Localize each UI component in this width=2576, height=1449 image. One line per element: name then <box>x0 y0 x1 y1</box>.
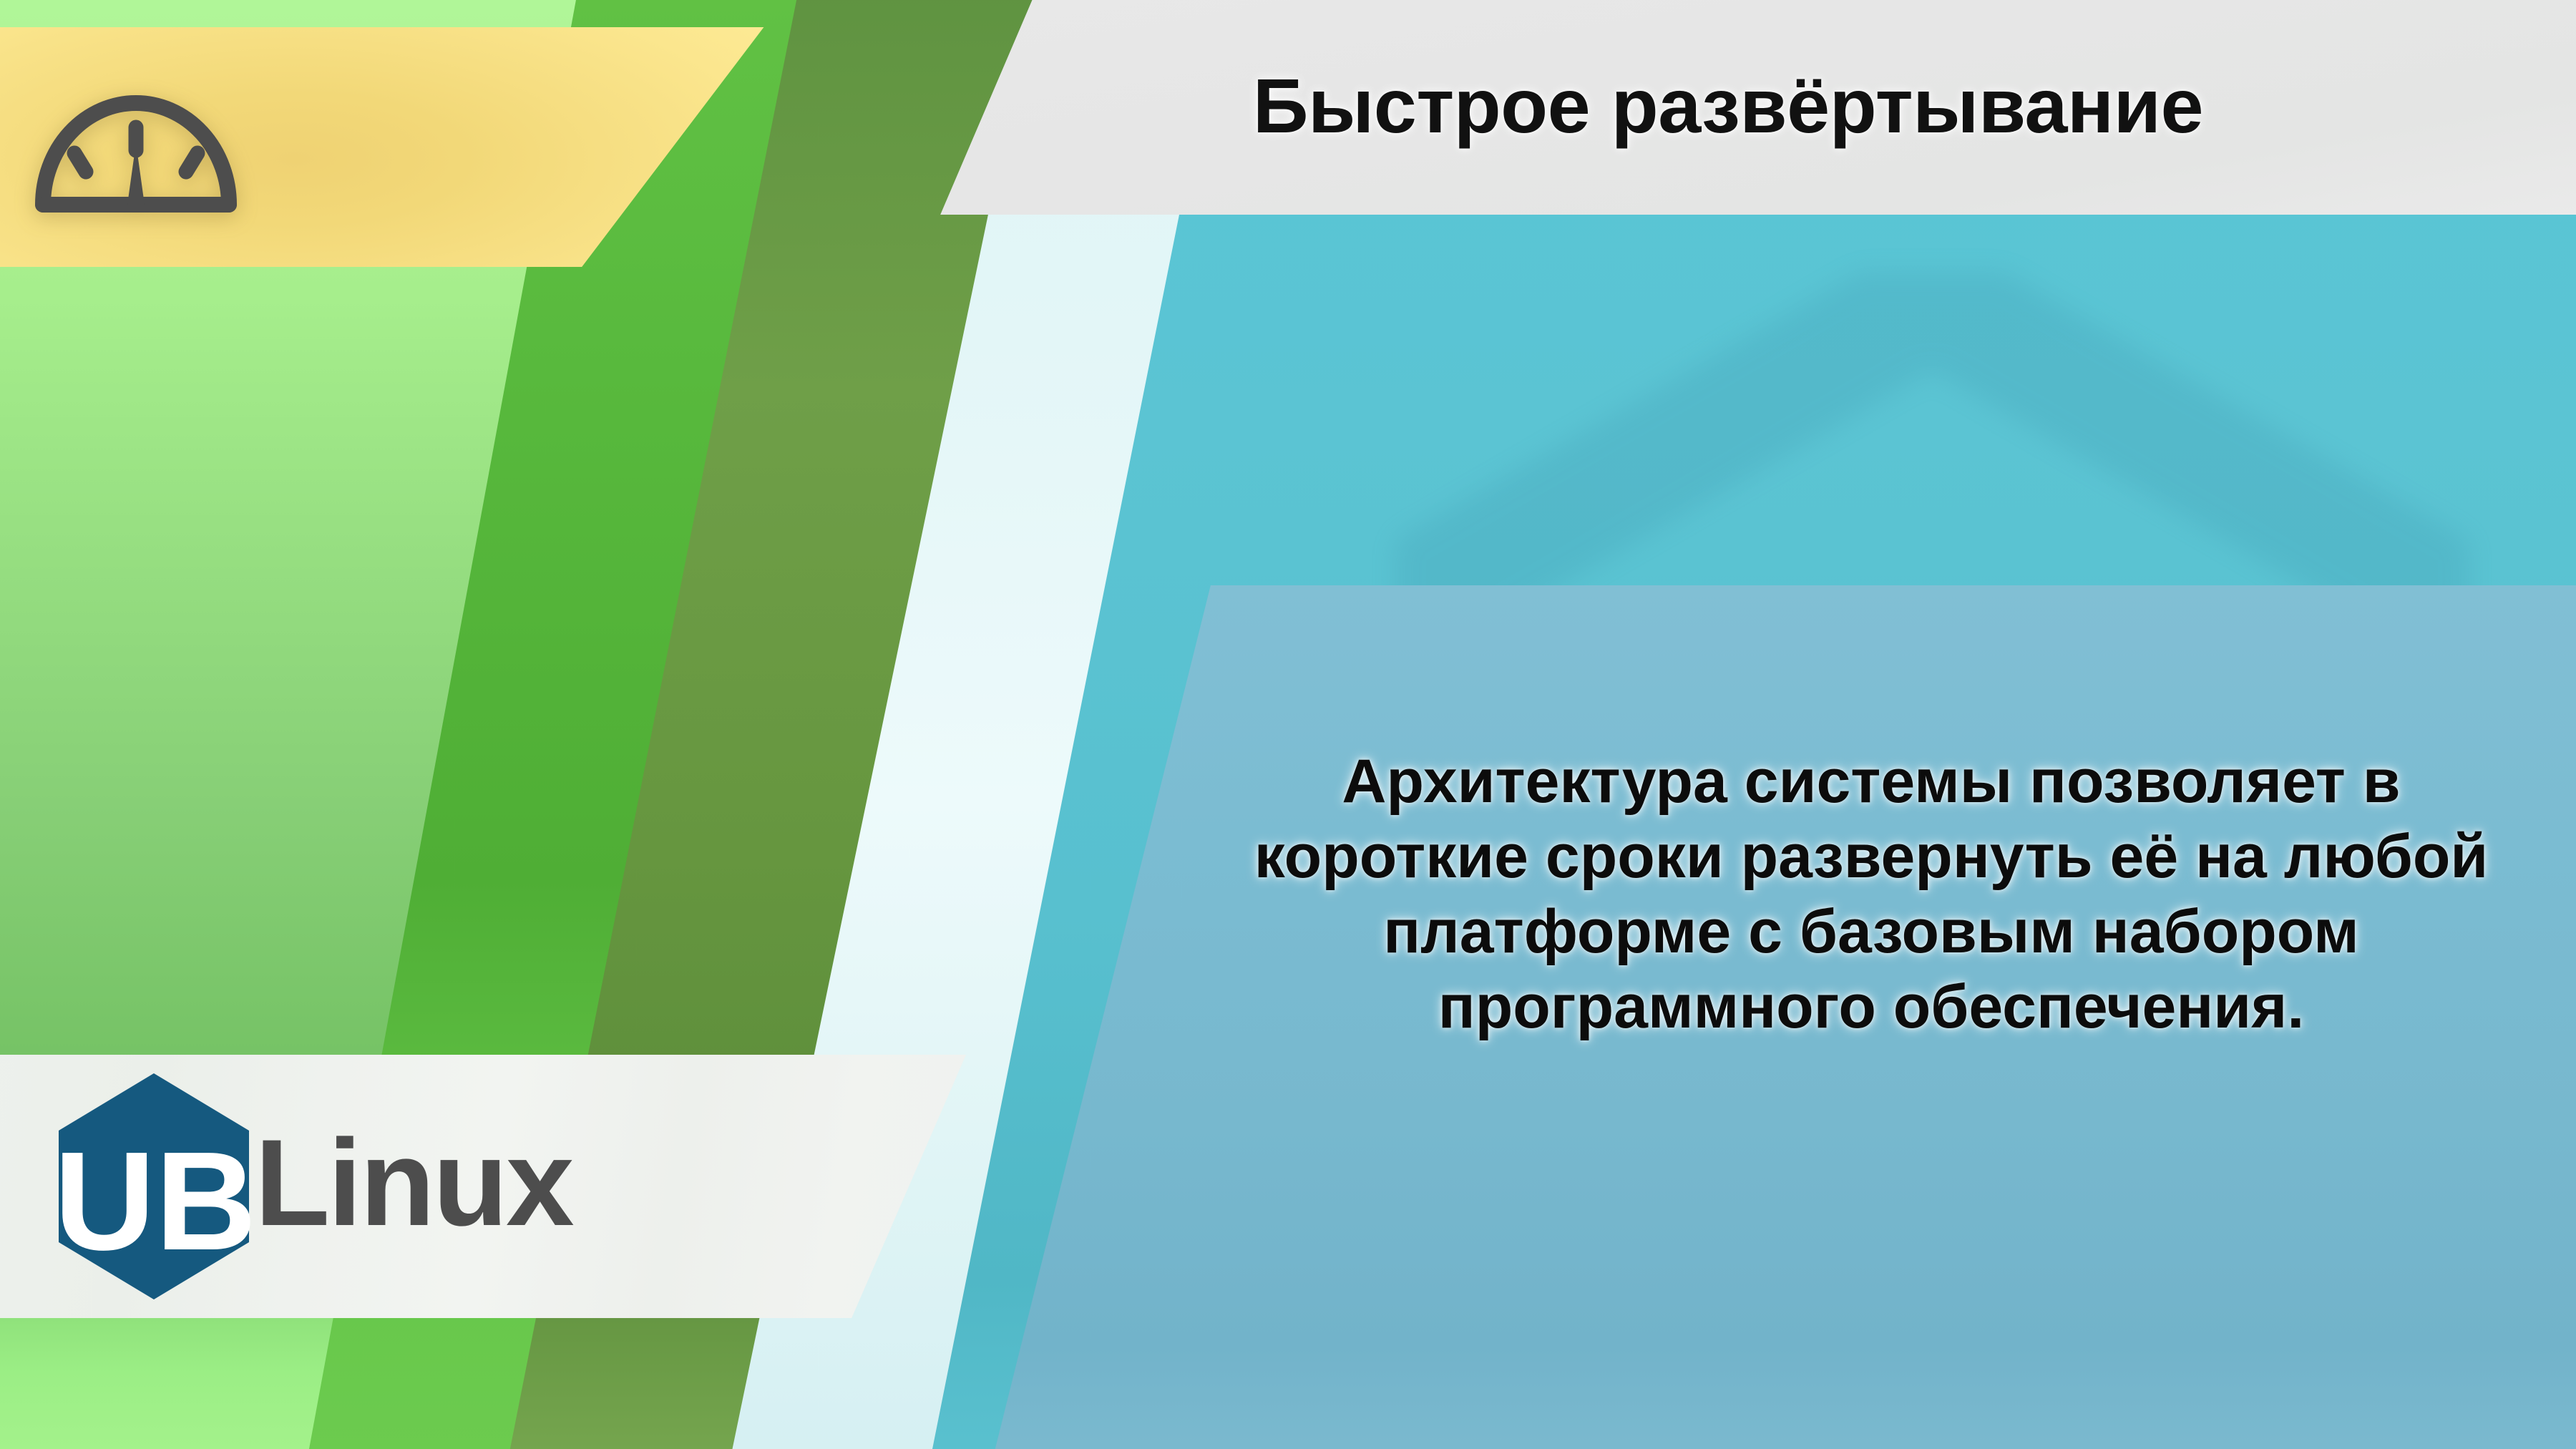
presentation-slide: UB Быстрое развёртывание Архитектура сис… <box>0 0 2576 1449</box>
body-text: Архитектура системы позволяет в короткие… <box>1216 744 2526 1045</box>
title-panel: Быстрое развёртывание <box>930 0 2576 215</box>
logo-wordmark: Linux <box>255 1121 572 1244</box>
page-title: Быстрое развёртывание <box>1253 61 2203 150</box>
logo-panel: UB Linux <box>0 1055 966 1318</box>
speedometer-gauge-icon <box>29 90 243 215</box>
logo-mark-text: UB <box>57 1123 250 1279</box>
ub-hexagon-logo-icon: UB <box>57 1072 250 1301</box>
